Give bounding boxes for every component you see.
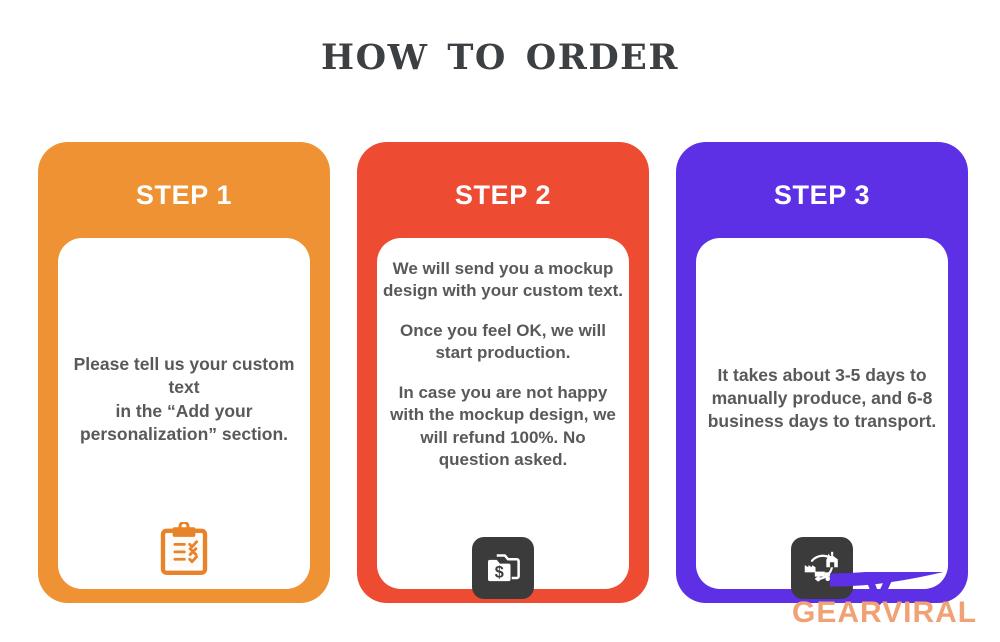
step-card-3-panel: It takes about 3-5 days to manually prod… (696, 238, 948, 589)
money-folder-icon: $ (472, 537, 534, 599)
step-card-3-icon-slot (789, 535, 855, 601)
step-card-3: STEP 3 It takes about 3-5 days to manual… (676, 142, 968, 603)
step-card-2-paragraph: In case you are not happy with the mocku… (383, 382, 623, 470)
step-card-1-body: Please tell us your custom text in the “… (68, 353, 300, 446)
step-card-3-header: STEP 3 (676, 142, 968, 238)
step-card-3-paragraph: It takes about 3-5 days to manually prod… (706, 364, 938, 434)
infographic-canvas: How to Order STEP 1 Please tell us your … (0, 0, 1000, 642)
svg-text:$: $ (495, 563, 504, 581)
step-card-2: STEP 2 We will send you a mockup design … (357, 142, 649, 603)
step-card-2-header: STEP 2 (357, 142, 649, 238)
supply-chain-logistics-icon (791, 537, 853, 599)
steps-container: STEP 1 Please tell us your custom text i… (38, 142, 968, 603)
step-card-1-paragraph: Please tell us your custom text in the “… (68, 353, 300, 446)
step-card-2-body: We will send you a mockup design with yo… (383, 258, 623, 471)
step-card-3-body: It takes about 3-5 days to manually prod… (706, 364, 938, 434)
step-card-1-icon-slot (151, 517, 217, 583)
clipboard-checklist-icon (153, 519, 215, 581)
step-card-2-icon-slot: $ (470, 535, 536, 601)
step-card-2-panel: We will send you a mockup design with yo… (377, 238, 629, 589)
step-card-1: STEP 1 Please tell us your custom text i… (38, 142, 330, 603)
step-card-1-panel: Please tell us your custom text in the “… (58, 238, 310, 589)
page-title: How to Order (0, 26, 1000, 79)
step-card-1-header: STEP 1 (38, 142, 330, 238)
step-card-2-paragraph: We will send you a mockup design with yo… (383, 258, 623, 302)
step-card-2-paragraph: Once you feel OK, we will start producti… (383, 320, 623, 364)
